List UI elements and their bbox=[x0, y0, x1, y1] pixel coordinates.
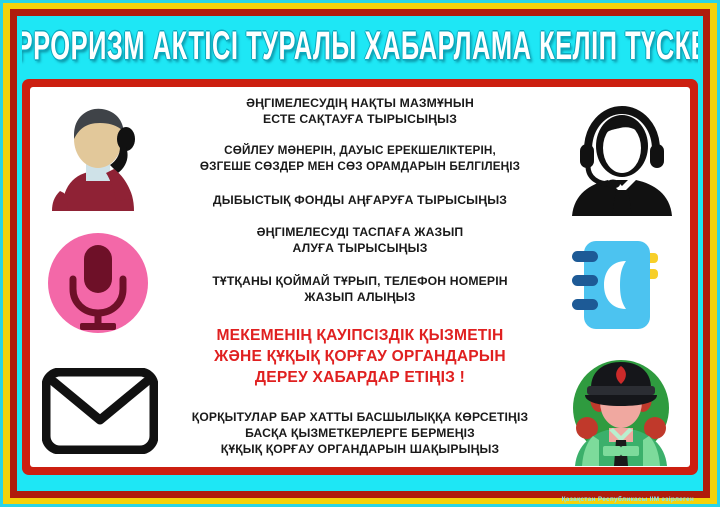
footer-credit: Қазақстан Республикасы ІІМ әзірлеген bbox=[562, 496, 694, 503]
microphone-icon bbox=[44, 229, 152, 337]
instruction-line: ӨЗГЕШЕ СӨЗДЕР МЕН СӨЗ ОРАМДАРЫН БЕЛГІЛЕҢ… bbox=[150, 159, 570, 175]
instruction-line: БАСҚА ҚЫЗМЕТКЕРЛЕРГЕ БЕРМЕҢІЗ bbox=[150, 425, 570, 441]
instruction-write-phone-number: ТҰТҚАНЫ ҚОЙМАЙ ТҰРЫП, ТЕЛЕФОН НОМЕРІН ЖА… bbox=[150, 273, 570, 306]
instruction-line: ӘҢГІМЕЛЕСУДІҢ НАҚТЫ МАЗМҰНЫН bbox=[150, 95, 570, 111]
phone-book-icon bbox=[566, 232, 678, 338]
instruction-line: ДЫБЫСТЫҚ ФОНДЫ АҢҒАРУҒА ТЫРЫСЫҢЫЗ bbox=[150, 192, 570, 208]
police-officer-icon bbox=[562, 353, 680, 467]
instruction-line: СӨЙЛЕУ МӘНЕРІН, ДАУЫС ЕРЕКШЕЛІКТЕРІН, bbox=[150, 143, 570, 159]
content-panel: ӘҢГІМЕЛЕСУДІҢ НАҚТЫ МАЗМҰНЫН ЕСТЕ САҚТАУ… bbox=[30, 87, 690, 467]
instruction-line: ҚҰҚЫҚ ҚОРҒАУ ОРГАНДАРЫН ШАҚЫРЫҢЫЗ bbox=[150, 441, 570, 457]
instruction-note-speech-manner: СӨЙЛЕУ МӘНЕРІН, ДАУЫС ЕРЕКШЕЛІКТЕРІН, ӨЗ… bbox=[150, 143, 570, 175]
instruction-line: ДЕРЕУ ХАБАРДАР ЕТІҢІЗ ! bbox=[150, 368, 570, 389]
poster-title: СІЗГЕ ТЕРРОРИЗМ АКТІСІ ТУРАЛЫ ХАБАРЛАМА … bbox=[22, 25, 698, 70]
instruction-notify-security-services: МЕКЕМЕНІҢ ҚАУІПСІЗДІК ҚЫЗМЕТІН ЖӘНЕ ҚҰҚЫ… bbox=[150, 326, 570, 389]
instruction-line: ЕСТЕ САҚТАУҒА ТЫРЫСЫҢЫЗ bbox=[150, 111, 570, 127]
man-on-phone-icon bbox=[38, 97, 158, 217]
instruction-record-conversation: ӘҢГІМЕЛЕСУДІ ТАСПАҒА ЖАЗЫП АЛУҒА ТЫРЫСЫҢ… bbox=[150, 224, 570, 257]
title-banner: СІЗГЕ ТЕРРОРИЗМ АКТІСІ ТУРАЛЫ ХАБАРЛАМА … bbox=[22, 20, 698, 75]
instruction-line: МЕКЕМЕНІҢ ҚАУІПСІЗДІК ҚЫЗМЕТІН bbox=[150, 326, 570, 347]
instruction-note-background-sound: ДЫБЫСТЫҚ ФОНДЫ АҢҒАРУҒА ТЫРЫСЫҢЫЗ bbox=[150, 192, 570, 208]
instruction-line: ЖӘНЕ ҚҰҚЫҚ ҚОРҒАУ ОРГАНДАРЫН bbox=[150, 347, 570, 368]
instruction-handle-threat-letter: ҚОРҚЫТУЛАР БАР ХАТТЫ БАСШЫЛЫҚҚА КӨРСЕТІҢ… bbox=[150, 409, 570, 458]
instruction-line: ҚОРҚЫТУЛАР БАР ХАТТЫ БАСШЫЛЫҚҚА КӨРСЕТІҢ… bbox=[150, 409, 570, 425]
poster-root: СІЗГЕ ТЕРРОРИЗМ АКТІСІ ТУРАЛЫ ХАБАРЛАМА … bbox=[0, 0, 720, 507]
instruction-remember-content: ӘҢГІМЕЛЕСУДІҢ НАҚТЫ МАЗМҰНЫН ЕСТЕ САҚТАУ… bbox=[150, 95, 570, 128]
envelope-icon bbox=[38, 359, 162, 463]
content-frame: ӘҢГІМЕЛЕСУДІҢ НАҚТЫ МАЗМҰНЫН ЕСТЕ САҚТАУ… bbox=[22, 79, 698, 475]
instruction-line: ЖАЗЫП АЛЫҢЫЗ bbox=[150, 289, 570, 305]
instruction-line: АЛУҒА ТЫРЫСЫҢЫЗ bbox=[150, 240, 570, 256]
instruction-line: ӘҢГІМЕЛЕСУДІ ТАСПАҒА ЖАЗЫП bbox=[150, 224, 570, 240]
instruction-line: ТҰТҚАНЫ ҚОЙМАЙ ТҰРЫП, ТЕЛЕФОН НОМЕРІН bbox=[150, 273, 570, 289]
headset-operator-icon bbox=[562, 95, 682, 219]
instruction-text-column: ӘҢГІМЕЛЕСУДІҢ НАҚТЫ МАЗМҰНЫН ЕСТЕ САҚТАУ… bbox=[150, 95, 570, 457]
